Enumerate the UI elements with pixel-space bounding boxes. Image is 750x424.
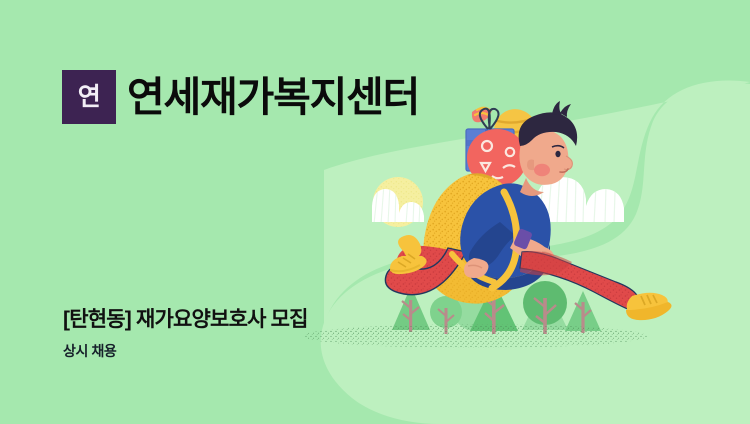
job-title: [탄현동] 재가요양보호사 모집 xyxy=(63,308,308,332)
company-name: 연세재가복지센터 xyxy=(127,77,419,118)
job-status-badge: 상시 채용 xyxy=(63,343,116,359)
brand-row: 연 연세재가복지센터 xyxy=(62,70,419,124)
illustration xyxy=(0,0,750,424)
brand-badge-label: 연 xyxy=(78,85,101,110)
job-posting-card: 연 연세재가복지센터 [탄현동] 재가요양보호사 모집 상시 채용 xyxy=(0,0,750,424)
brand-badge: 연 xyxy=(62,70,116,124)
ground-speckle xyxy=(303,324,647,348)
